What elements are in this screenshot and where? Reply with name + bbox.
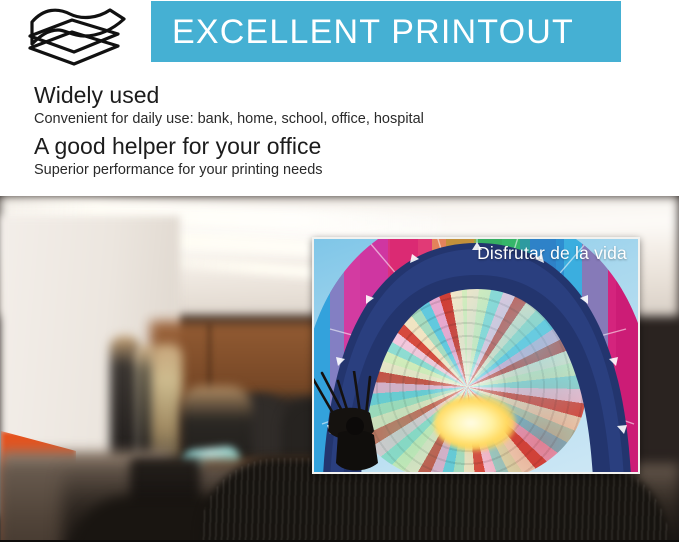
feature-title-1: Widely used <box>34 82 424 109</box>
feature-item-1: Widely used Convenient for daily use: ba… <box>34 82 424 130</box>
photo-caption: Disfrutar de la vida <box>477 243 627 264</box>
headline-banner: EXCELLENT PRINTOUT <box>151 1 621 62</box>
feature-subtitle-1: Convenient for daily use: bank, home, sc… <box>34 110 424 130</box>
paper-stack-icon <box>14 6 132 66</box>
feature-title-2: A good helper for your office <box>34 133 323 160</box>
feature-header-block: EXCELLENT PRINTOUT Widely used Convenien… <box>0 0 679 196</box>
office-scene-photo: Disfrutar de la vida <box>0 196 679 542</box>
feature-subtitle-2: Superior performance for your printing n… <box>34 161 323 181</box>
product-feature-image: EXCELLENT PRINTOUT Widely used Convenien… <box>0 0 679 542</box>
headline-text: EXCELLENT PRINTOUT <box>172 15 574 49</box>
printed-photo: Disfrutar de la vida <box>312 237 640 474</box>
balloon-basket-silhouette <box>312 371 428 474</box>
feature-item-2: A good helper for your office Superior p… <box>34 133 323 181</box>
